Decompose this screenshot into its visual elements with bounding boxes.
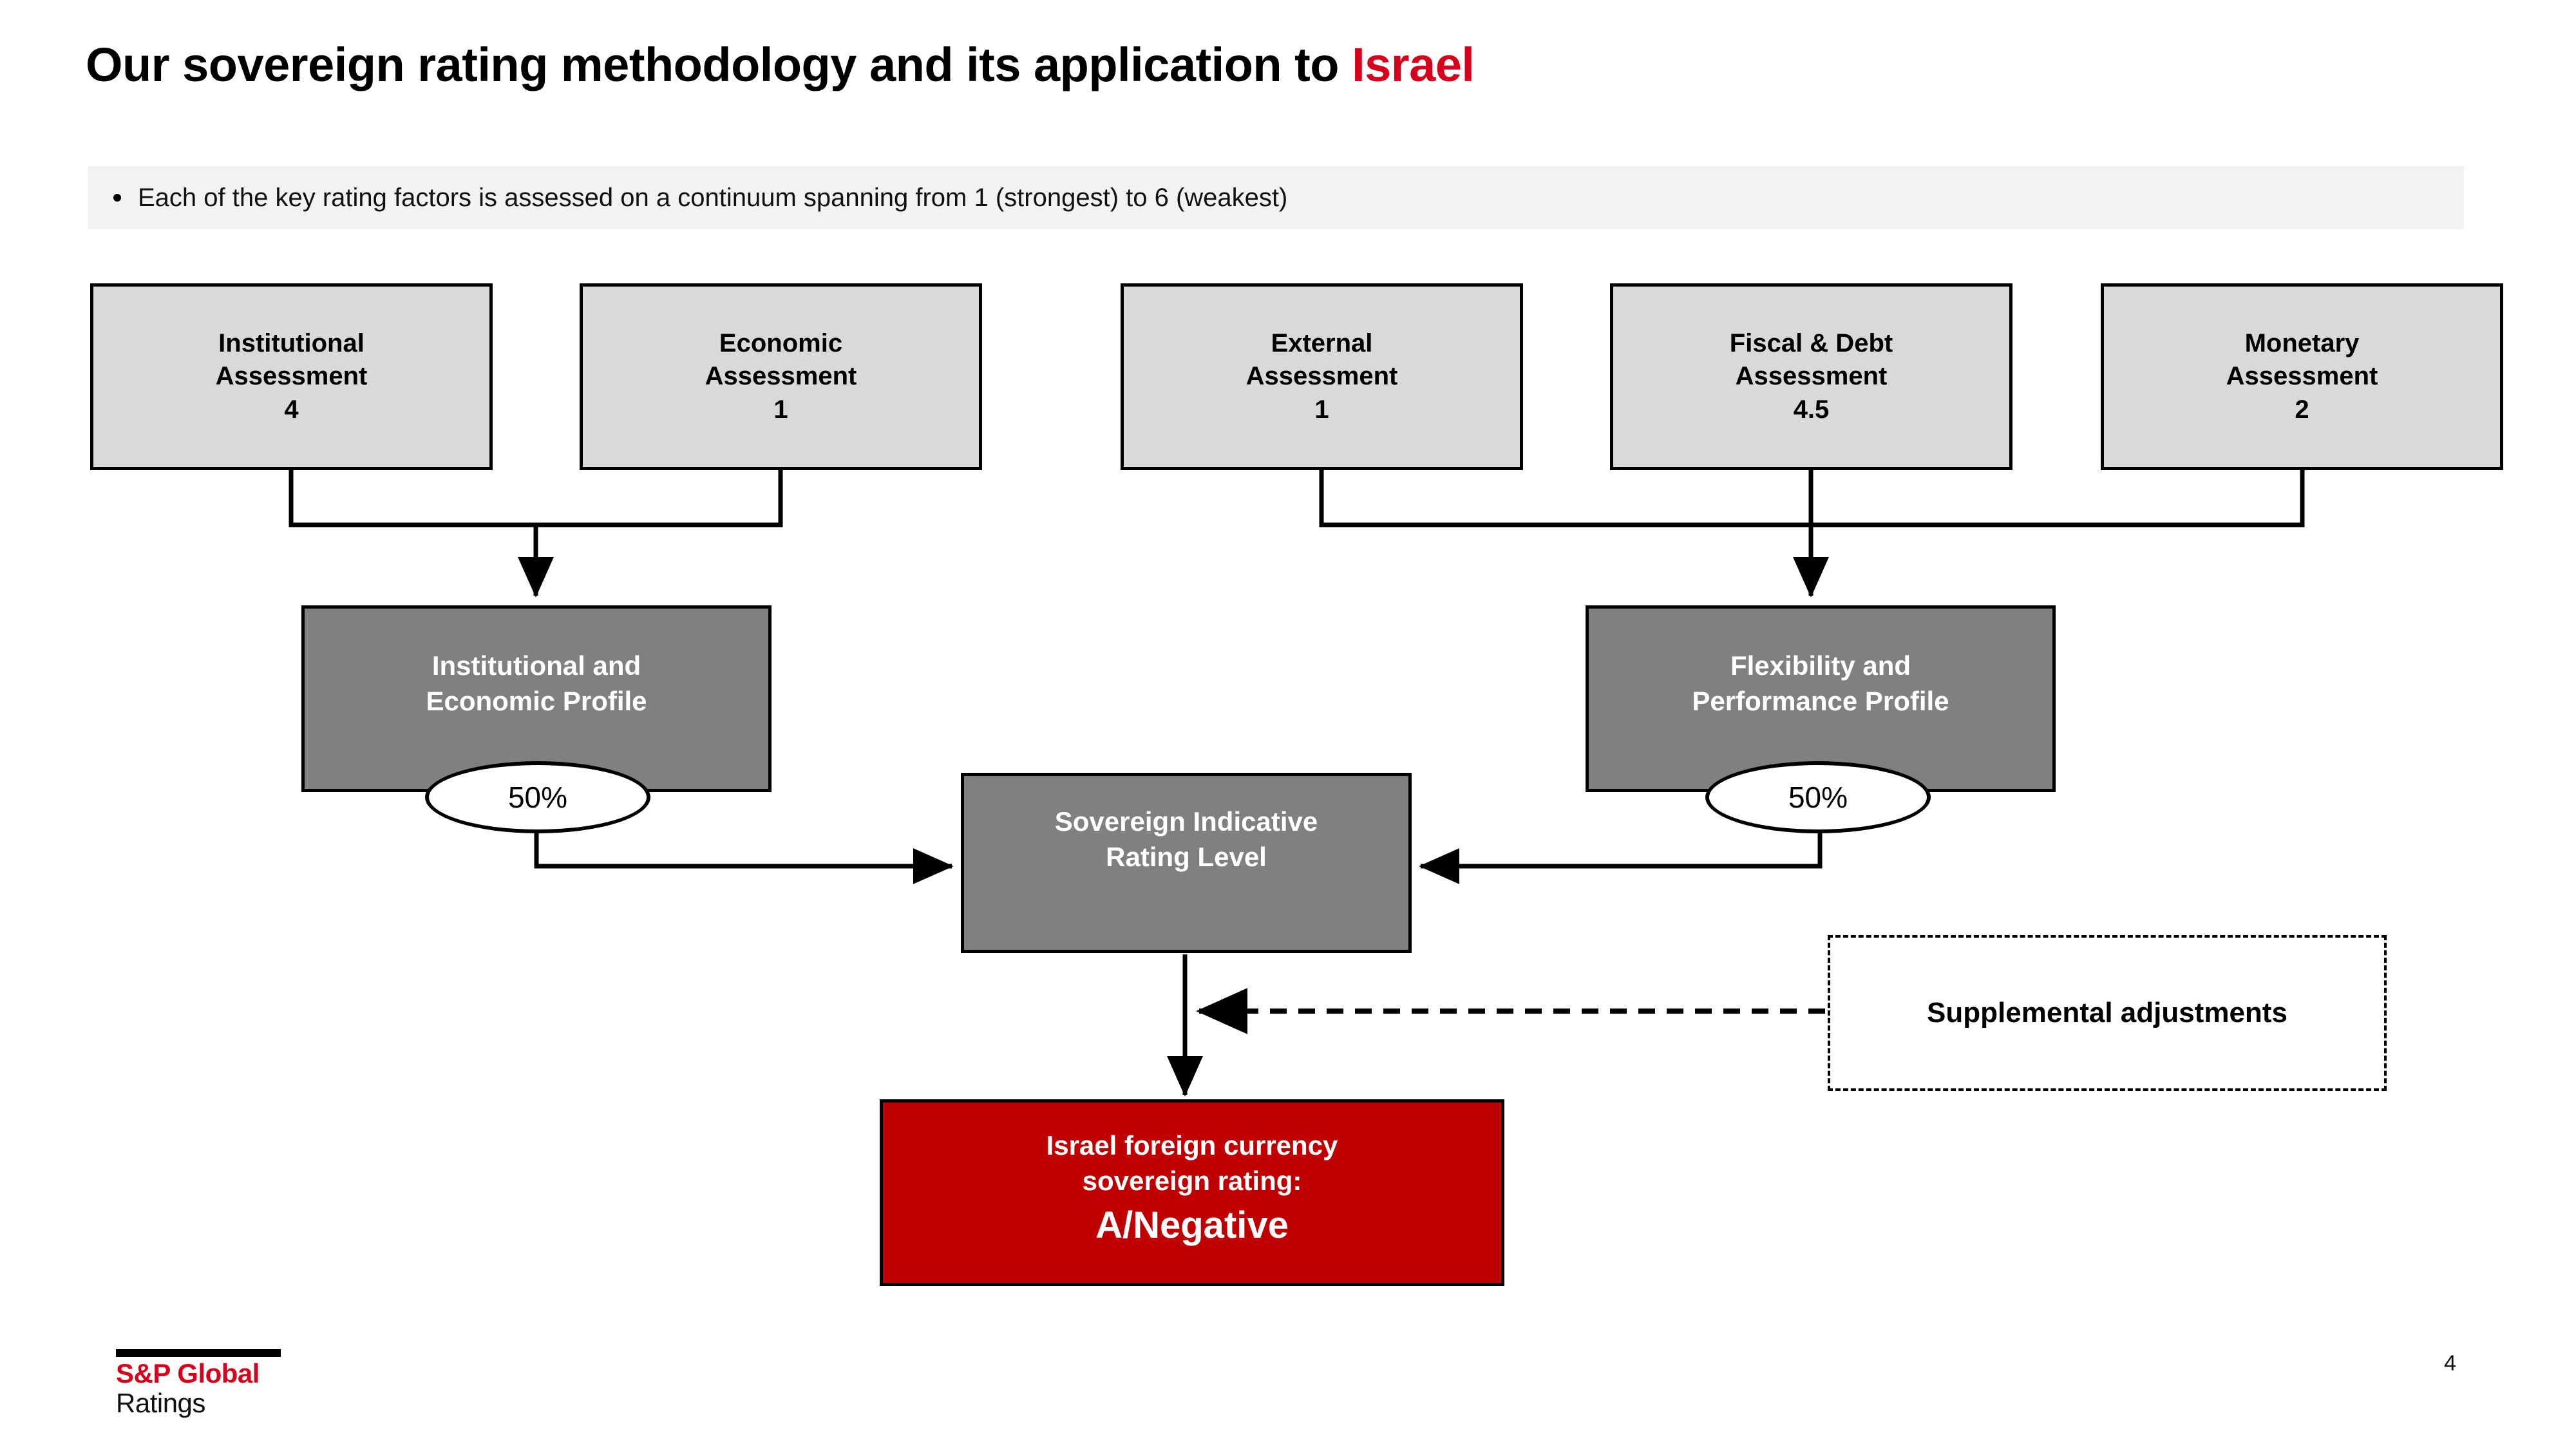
factor-box-fiscal-debt[interactable]: Fiscal & Debt Assessment 4.5	[1610, 283, 2012, 470]
page-title-accent: Israel	[1352, 38, 1474, 91]
page-number: 4	[2444, 1351, 2456, 1376]
bullet-dot-icon	[113, 194, 121, 202]
supplemental-adjustments-box[interactable]: Supplemental adjustments	[1828, 935, 2387, 1091]
factor-label-line1: External	[1271, 327, 1373, 360]
indicative-label-line2: Rating Level	[1106, 840, 1267, 875]
factor-label-line2: Assessment	[2226, 360, 2378, 393]
bullet-text: Each of the key rating factors is assess…	[138, 184, 1287, 213]
factor-label-line2: Assessment	[1736, 360, 1888, 393]
factor-score: 2	[2295, 393, 2309, 426]
factor-score: 1	[773, 393, 788, 426]
supplemental-label: Supplemental adjustments	[1927, 997, 2287, 1029]
final-rating-box[interactable]: Israel foreign currency sovereign rating…	[880, 1099, 1504, 1286]
factor-box-external[interactable]: External Assessment 1	[1121, 283, 1523, 470]
factor-label-line1: Fiscal & Debt	[1730, 327, 1893, 360]
profile-label-line2: Performance Profile	[1692, 684, 1949, 719]
weight-value: 50%	[508, 780, 567, 815]
factor-box-institutional[interactable]: Institutional Assessment 4	[90, 283, 493, 470]
page-title: Our sovereign rating methodology and its…	[86, 37, 1474, 92]
connector-left-bracket	[291, 470, 781, 596]
factor-label-line2: Assessment	[216, 360, 368, 393]
page-title-main: Our sovereign rating methodology and its…	[86, 38, 1352, 91]
bullet-row: Each of the key rating factors is assess…	[113, 166, 1287, 229]
weight-badge-institutional-economic: 50%	[425, 761, 650, 833]
rating-label-line1: Israel foreign currency	[1046, 1128, 1338, 1164]
slide-canvas: Our sovereign rating methodology and its…	[0, 0, 2576, 1449]
factor-score: 1	[1314, 393, 1329, 426]
factor-box-monetary[interactable]: Monetary Assessment 2	[2101, 283, 2503, 470]
weight-value: 50%	[1788, 780, 1848, 815]
profile-label-line2: Economic Profile	[426, 684, 647, 719]
factor-label-line2: Assessment	[1246, 360, 1398, 393]
factor-label-line1: Institutional	[218, 327, 365, 360]
factor-box-economic[interactable]: Economic Assessment 1	[580, 283, 982, 470]
connector-right-bracket	[1321, 470, 2302, 596]
logo-sp-global: S&P Global	[116, 1359, 281, 1388]
rating-value: A/Negative	[1095, 1202, 1289, 1249]
factor-label-line2: Assessment	[705, 360, 857, 393]
sovereign-indicative-rating-level-box[interactable]: Sovereign Indicative Rating Level	[961, 773, 1412, 953]
factor-label-line1: Economic	[719, 327, 842, 360]
rating-label-line2: sovereign rating:	[1083, 1164, 1302, 1199]
connector-right-profile-to-indicative	[1421, 829, 1820, 866]
logo-rule	[116, 1349, 281, 1357]
sp-global-ratings-logo: S&P Global Ratings	[116, 1349, 281, 1418]
weight-badge-flexibility-performance: 50%	[1705, 761, 1931, 833]
profile-label-line1: Flexibility and	[1730, 649, 1911, 684]
indicative-label-line1: Sovereign Indicative	[1055, 804, 1318, 840]
factor-score: 4.5	[1794, 393, 1830, 426]
bullet-bar: Each of the key rating factors is assess…	[88, 166, 2464, 229]
factor-score: 4	[284, 393, 298, 426]
logo-ratings: Ratings	[116, 1388, 281, 1418]
profile-label-line1: Institutional and	[432, 649, 641, 684]
connector-left-profile-to-indicative	[536, 829, 952, 866]
factor-label-line1: Monetary	[2245, 327, 2360, 360]
